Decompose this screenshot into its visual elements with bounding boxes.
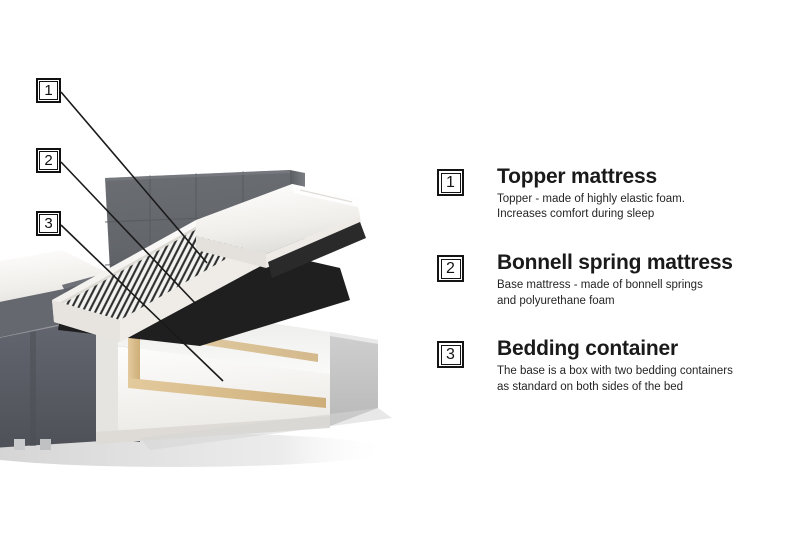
infographic-canvas: 1 2 3 1 Topper mattress Topper - made of… [0,0,800,533]
legend-item-1-text: Topper mattress Topper - made of highly … [497,165,787,223]
marker-2[interactable]: 2 [36,148,61,173]
legend-item-1-title: Topper mattress [497,165,787,189]
marker-1-label: 1 [39,81,58,100]
marker-2-label: 2 [39,151,58,170]
marker-3[interactable]: 3 [36,211,61,236]
legend-badge-1: 1 [437,169,464,196]
legend-list: 1 Topper mattress Topper - made of highl… [437,165,787,424]
legend-item-1[interactable]: 1 Topper mattress Topper - made of highl… [437,165,787,223]
legend-item-3[interactable]: 3 Bedding container The base is a box wi… [437,337,787,395]
legend-badge-1-label: 1 [441,173,461,193]
legend-badge-3: 3 [437,341,464,368]
legend-item-3-description: The base is a box with two bedding conta… [497,364,787,396]
legend-item-3-title: Bedding container [497,337,787,361]
legend-item-2-description: Base mattress - made of bonnell springs … [497,278,787,310]
legend-item-1-description: Topper - made of highly elastic foam. In… [497,192,787,224]
legend-item-3-text: Bedding container The base is a box with… [497,337,787,395]
legend-badge-3-label: 3 [441,345,461,365]
legend-badge-2-label: 2 [441,259,461,279]
marker-3-label: 3 [39,214,58,233]
legend-item-2-text: Bonnell spring mattress Base mattress - … [497,251,787,309]
marker-1[interactable]: 1 [36,78,61,103]
legend-item-2[interactable]: 2 Bonnell spring mattress Base mattress … [437,251,787,309]
legend-item-2-title: Bonnell spring mattress [497,251,787,275]
legend-badge-2: 2 [437,255,464,282]
bed-product-illustration [0,150,430,480]
